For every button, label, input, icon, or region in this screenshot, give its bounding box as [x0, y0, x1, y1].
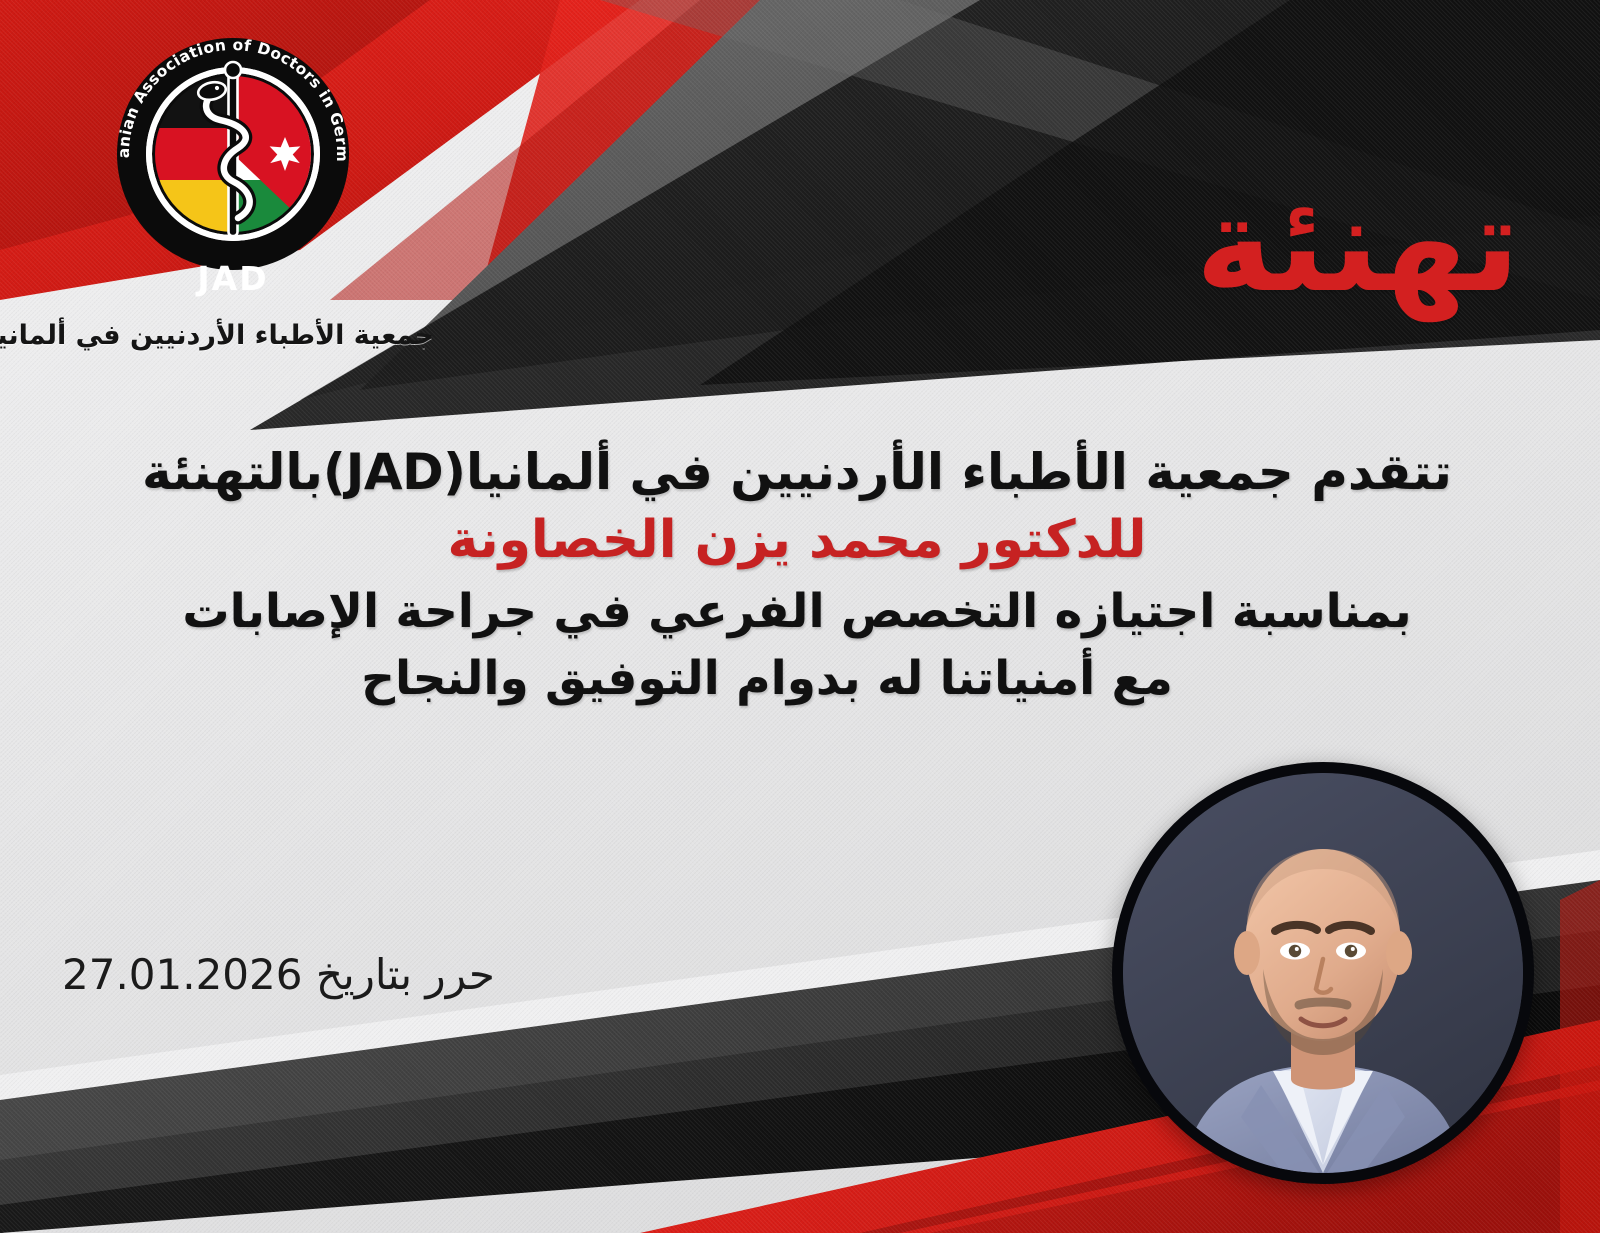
issue-date: حرر بتاريخ 27.01.2026	[62, 950, 495, 999]
congratulation-poster: Jordanian Association of Doctors in Germ…	[0, 0, 1600, 1233]
jad-logo: Jordanian Association of Doctors in Germ…	[78, 36, 388, 306]
message-line-intro: تتقدم جمعية الأطباء الأردنيين في ألمانيا…	[52, 440, 1542, 504]
message-line-wishes: مع أمنياتنا له بدوام التوفيق والنجاح	[52, 646, 1482, 712]
honoree-name: للدكتور محمد يزن الخصاونة	[52, 504, 1542, 578]
message-line-occasion: بمناسبة اجتيازه التخصص الفرعي في جراحة ا…	[52, 578, 1542, 646]
logo-acronym: JAD	[195, 259, 268, 298]
message-body: تتقدم جمعية الأطباء الأردنيين في ألمانيا…	[52, 440, 1542, 711]
association-arabic-name: جمعية الأطباء الأردنيين في ألمانيا	[44, 320, 434, 351]
page-title: تهنئة	[1195, 176, 1520, 315]
doctor-portrait	[1112, 762, 1534, 1184]
